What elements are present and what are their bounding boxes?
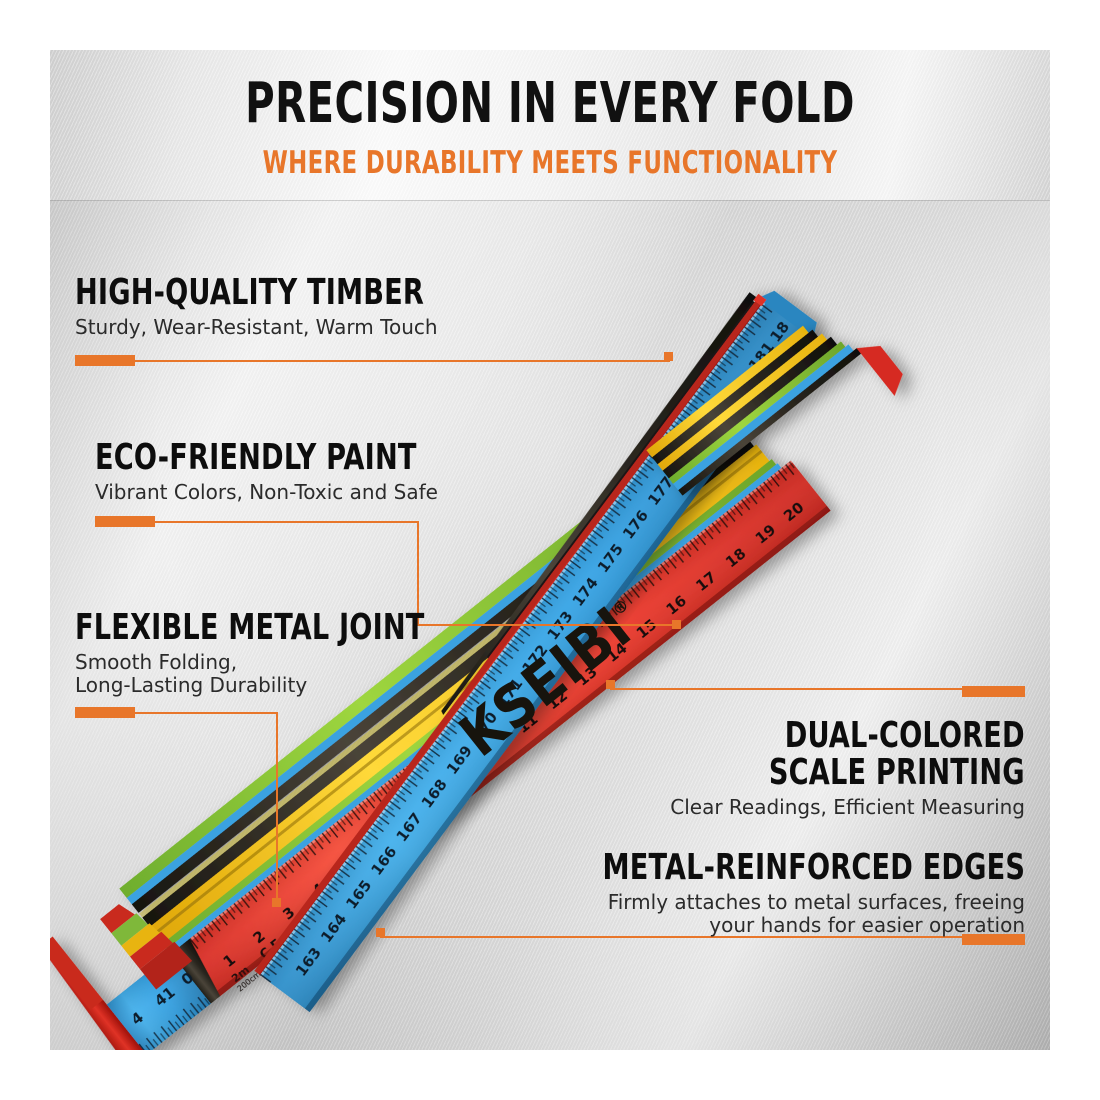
svg-text:12: 12 bbox=[544, 686, 572, 713]
connector-cap-dual-scale bbox=[962, 686, 1025, 697]
connector-endpoint-paint bbox=[672, 620, 681, 629]
callout-high-quality-timber: HIGH-QUALITY TIMBER Sturdy, Wear-Resista… bbox=[75, 275, 490, 339]
svg-text:169: 169 bbox=[443, 742, 476, 778]
svg-text:19: 19 bbox=[752, 521, 780, 548]
connector-cap-joint bbox=[75, 707, 135, 718]
callout-subtitle-eco-friendly-paint: Vibrant Colors, Non-Toxic and Safe bbox=[95, 481, 478, 504]
svg-text:6: 6 bbox=[368, 832, 387, 853]
svg-text:2: 2 bbox=[249, 927, 268, 948]
callout-flexible-metal-joint: FLEXIBLE METAL JOINT Smooth Folding, Lon… bbox=[75, 610, 491, 697]
svg-text:7: 7 bbox=[398, 809, 417, 830]
svg-text:172: 172 bbox=[518, 641, 551, 677]
svg-text:166: 166 bbox=[367, 843, 400, 879]
svg-text:18: 18 bbox=[766, 318, 793, 345]
svg-text:164: 164 bbox=[317, 910, 350, 946]
callout-metal-reinforced-edges: METAL-REINFORCED EDGES Firmly attaches t… bbox=[522, 850, 1025, 937]
svg-text:4: 4 bbox=[309, 879, 328, 900]
page-subtitle: WHERE DURABILITY MEETS FUNCTIONALITY bbox=[140, 148, 960, 179]
svg-text:Metric: Metric bbox=[334, 872, 369, 903]
svg-text:3: 3 bbox=[279, 903, 298, 924]
callout-subtitle-metal-reinforced-edges: Firmly attaches to metal surfaces, freei… bbox=[522, 891, 1025, 937]
svg-text:167: 167 bbox=[393, 809, 426, 845]
connector-endpoint-metal-edges bbox=[376, 928, 385, 937]
svg-text:C E: C E bbox=[257, 937, 284, 963]
callout-title-eco-friendly-paint: ECO-FRIENDLY PAINT bbox=[95, 440, 417, 476]
callout-title-high-quality-timber: HIGH-QUALITY TIMBER bbox=[75, 275, 424, 311]
svg-text:0: 0 bbox=[178, 968, 197, 989]
callout-title-flexible-metal-joint: FLEXIBLE METAL JOINT bbox=[75, 610, 425, 646]
svg-text:16: 16 bbox=[663, 592, 691, 619]
svg-text:11: 11 bbox=[514, 710, 542, 737]
svg-text:15: 15 bbox=[633, 615, 661, 642]
svg-text:20: 20 bbox=[780, 498, 808, 525]
header-divider bbox=[50, 200, 1050, 201]
callout-title-metal-reinforced-edges: METAL-REINFORCED EDGES bbox=[602, 850, 1025, 886]
svg-text:170: 170 bbox=[468, 708, 501, 744]
connector-cap-paint bbox=[95, 516, 155, 527]
svg-text:®: ® bbox=[608, 595, 632, 620]
svg-text:176: 176 bbox=[619, 507, 652, 543]
header-band: PRECISION IN EVERY FOLD WHERE DURABILITY… bbox=[50, 50, 1050, 200]
svg-text:1: 1 bbox=[220, 950, 239, 971]
svg-text:180: 180 bbox=[720, 372, 753, 408]
svg-text:9: 9 bbox=[458, 761, 477, 782]
svg-text:5: 5 bbox=[339, 856, 358, 877]
connector-endpoint-joint bbox=[272, 898, 281, 907]
infographic-canvas: 12 34 56 78 910 1112 1314 1516 1718 1920… bbox=[0, 0, 1100, 1100]
callout-subtitle-dual-colored-scale-printing: Clear Readings, Efficient Measuring bbox=[670, 796, 1025, 819]
svg-text:2m: 2m bbox=[229, 963, 252, 985]
svg-text:177: 177 bbox=[644, 473, 677, 509]
svg-text:178: 178 bbox=[669, 439, 702, 475]
callout-dual-colored-scale-printing: DUAL-COLORED SCALE PRINTING Clear Readin… bbox=[670, 718, 1025, 820]
connector-line-joint-drop bbox=[276, 712, 278, 905]
metal-background-panel: 12 34 56 78 910 1112 1314 1516 1718 1920… bbox=[50, 50, 1050, 1050]
callout-eco-friendly-paint: ECO-FRIENDLY PAINT Vibrant Colors, Non-T… bbox=[95, 440, 478, 504]
connector-line-timber bbox=[75, 360, 670, 362]
svg-text:165: 165 bbox=[342, 877, 375, 913]
svg-text:171: 171 bbox=[493, 675, 526, 711]
svg-text:13: 13 bbox=[573, 663, 601, 690]
svg-text:14: 14 bbox=[603, 639, 631, 666]
connector-cap-timber bbox=[75, 355, 135, 366]
svg-text:174: 174 bbox=[569, 574, 602, 610]
svg-text:FS0396: FS0396 bbox=[379, 841, 411, 869]
callout-subtitle-high-quality-timber: Sturdy, Wear-Resistant, Warm Touch bbox=[75, 316, 490, 339]
svg-text:18: 18 bbox=[722, 544, 750, 571]
connector-endpoint-dual-scale bbox=[606, 680, 615, 689]
svg-text:181: 181 bbox=[745, 339, 778, 375]
svg-text:4: 4 bbox=[128, 1008, 147, 1029]
svg-text:8: 8 bbox=[428, 785, 447, 806]
callout-subtitle-flexible-metal-joint: Smooth Folding, Long-Lasting Durability bbox=[75, 651, 491, 697]
connector-endpoint-timber bbox=[664, 352, 673, 361]
connector-cap-metal-edges bbox=[962, 934, 1025, 945]
svg-text:10: 10 bbox=[484, 734, 512, 761]
svg-text:175: 175 bbox=[594, 540, 627, 576]
svg-text:KSEIBI: KSEIBI bbox=[442, 794, 471, 819]
svg-text:17: 17 bbox=[692, 568, 720, 595]
svg-text:41: 41 bbox=[151, 983, 179, 1010]
svg-text:179: 179 bbox=[695, 406, 728, 442]
svg-text:168: 168 bbox=[418, 776, 451, 812]
callout-title-dual-colored-scale-printing: DUAL-COLORED SCALE PRINTING bbox=[727, 718, 1025, 791]
svg-text:200cm: 200cm bbox=[236, 969, 263, 993]
svg-text:163: 163 bbox=[292, 944, 325, 980]
page-title: PRECISION IN EVERY FOLD bbox=[150, 76, 950, 132]
